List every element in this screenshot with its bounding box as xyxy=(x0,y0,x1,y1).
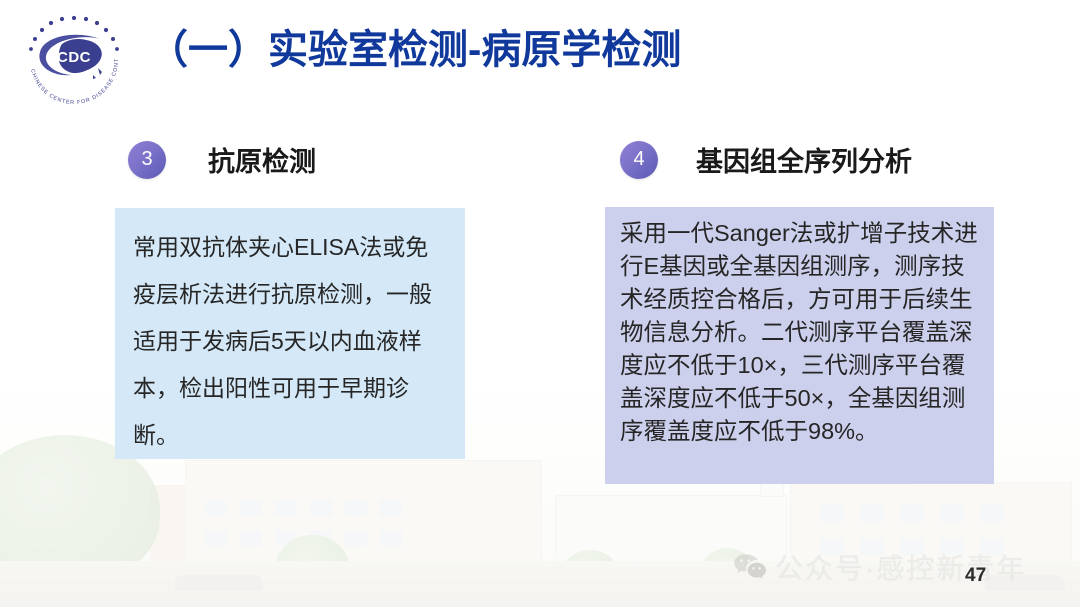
background-window xyxy=(345,530,367,546)
background-window xyxy=(940,538,964,555)
background-window xyxy=(860,538,884,555)
genome-sequencing-text-box: 采用一代Sanger法或扩增子技术进行E基因或全基因组测序，测序技术经质控合格后… xyxy=(605,207,994,484)
section-title-3: 抗原检测 xyxy=(208,140,316,179)
antigen-detection-body: 常用双抗体夹心ELISA法或免疫层析法进行抗原检测，一般适用于发病后5天以内血液… xyxy=(133,224,451,459)
background-window xyxy=(900,538,924,555)
background-tree xyxy=(700,548,755,600)
antigen-detection-text-box: 常用双抗体夹心ELISA法或免疫层析法进行抗原检测，一般适用于发病后5天以内血液… xyxy=(115,208,465,459)
background-window xyxy=(275,530,297,546)
background-window xyxy=(860,505,884,522)
section-number-badge-4: 4 xyxy=(620,141,658,179)
background-window xyxy=(820,505,844,522)
section-title-4: 基因组全序列分析 xyxy=(696,140,912,179)
background-window xyxy=(345,500,367,516)
genome-sequencing-body: 采用一代Sanger法或扩增子技术进行E基因或全基因组测序，测序技术经质控合格后… xyxy=(620,217,984,448)
background-window xyxy=(820,538,844,555)
background-window xyxy=(240,500,262,516)
background-building-center xyxy=(185,460,542,592)
background-window xyxy=(980,505,1004,522)
background-building-left xyxy=(150,485,382,592)
background-window xyxy=(980,538,1004,555)
page-title: （一）实验室检测-病原学检测 xyxy=(148,26,681,74)
wechat-watermark-text: 公众号·感控新青年 xyxy=(775,547,1026,587)
background-building-right xyxy=(790,482,1072,594)
background-car xyxy=(175,575,263,591)
background-window xyxy=(310,530,332,546)
page-number: 47 xyxy=(965,565,986,587)
china-cdc-logo: CHINESE CENTER FOR DISEASE CONTROL AND P… xyxy=(14,8,134,104)
background-window xyxy=(900,505,924,522)
background-lawn xyxy=(0,565,1080,585)
svg-text:CDC: CDC xyxy=(57,49,91,66)
wechat-icon xyxy=(733,552,767,582)
background-window xyxy=(205,500,227,516)
background-window xyxy=(310,500,332,516)
background-window xyxy=(940,505,964,522)
background-building-entry xyxy=(555,495,787,572)
background-window xyxy=(380,530,402,546)
slide: CHINESE CENTER FOR DISEASE CONTROL AND P… xyxy=(0,0,1080,607)
background-road xyxy=(0,561,1080,607)
background-tree xyxy=(560,550,620,605)
background-window xyxy=(380,500,402,516)
background-window xyxy=(240,530,262,546)
background-window xyxy=(205,530,227,546)
section-heading-3: 3 抗原检测 xyxy=(128,140,316,179)
background-window xyxy=(275,500,297,516)
section-number-badge-3: 3 xyxy=(128,141,166,179)
background-car xyxy=(985,575,1065,591)
section-heading-4: 4 基因组全序列分析 xyxy=(620,140,912,179)
background-tree xyxy=(275,535,350,605)
